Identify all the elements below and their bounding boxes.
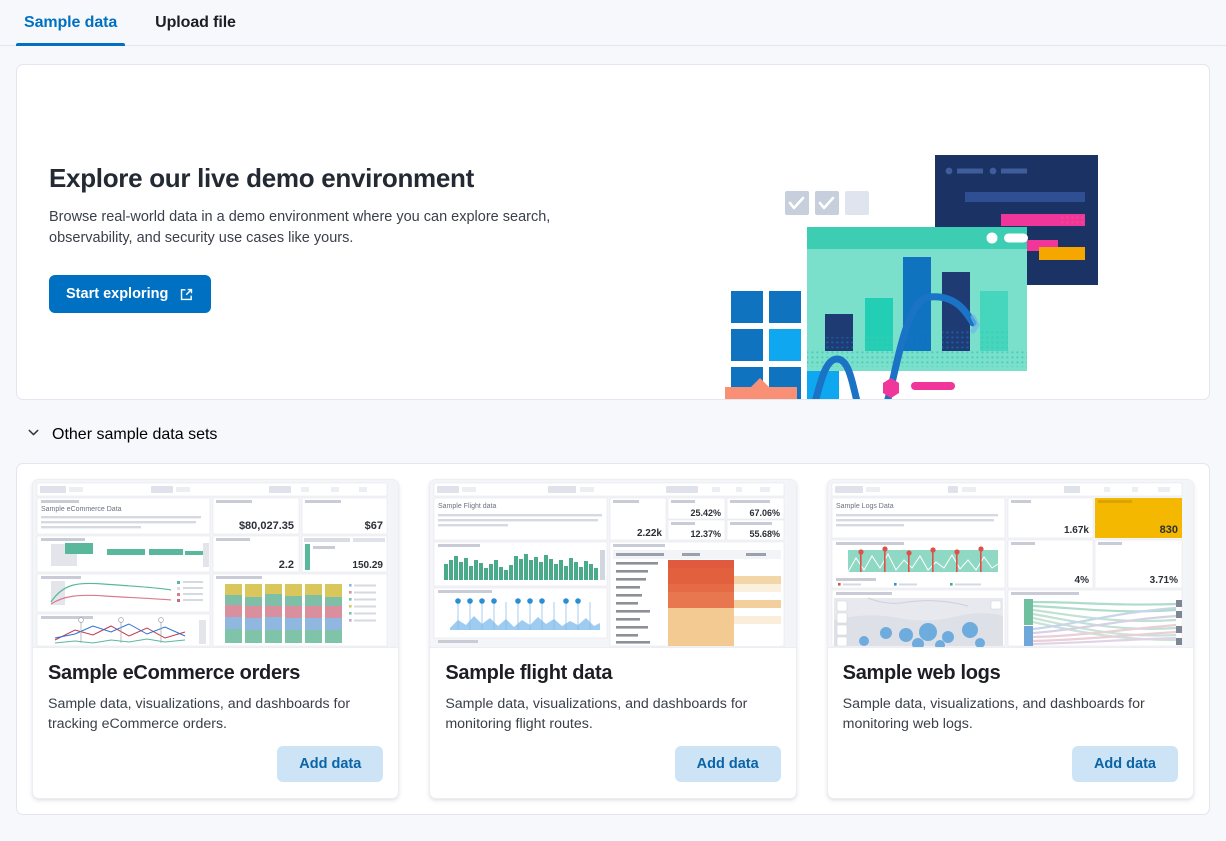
card-title-ecommerce: Sample eCommerce orders — [48, 662, 383, 685]
card-body-ecommerce: Sample eCommerce orders Sample data, vis… — [33, 648, 398, 746]
add-data-button-ecommerce[interactable]: Add data — [277, 746, 383, 782]
card-description-weblogs: Sample data, visualizations, and dashboa… — [843, 694, 1178, 734]
svg-text:25.42%: 25.42% — [691, 508, 722, 518]
card-footer-flight: Add data — [430, 746, 795, 798]
card-footer-weblogs: Add data — [828, 746, 1193, 798]
page-content: Explore our live demo environment Browse… — [0, 46, 1226, 815]
card-body-weblogs: Sample web logs Sample data, visualizati… — [828, 648, 1193, 746]
card-title-flight: Sample flight data — [445, 662, 780, 685]
svg-text:12.37%: 12.37% — [691, 529, 722, 539]
svg-text:830: 830 — [1159, 524, 1177, 536]
svg-text:Sample Logs Data: Sample Logs Data — [836, 503, 894, 510]
thumbnail-flight-dashboard: Sample Flight data 2.22k 25.42% 67.06% — [430, 480, 795, 648]
svg-text:67.06%: 67.06% — [750, 508, 781, 518]
svg-text:4%: 4% — [1074, 575, 1089, 586]
svg-text:Sample eCommerce Data: Sample eCommerce Data — [41, 506, 122, 513]
card-description-flight: Sample data, visualizations, and dashboa… — [445, 694, 780, 734]
tab-bar: Sample data Upload file — [0, 0, 1226, 46]
start-exploring-button[interactable]: Start exploring — [49, 275, 211, 313]
chevron-down-icon — [26, 425, 41, 445]
start-exploring-label: Start exploring — [66, 286, 168, 302]
thumbnail-weblogs-dashboard: Sample Logs Data 1.67k 830 — [828, 480, 1193, 648]
hero-text-block: Explore our live demo environment Browse… — [49, 163, 609, 313]
tab-sample-data[interactable]: Sample data — [16, 0, 125, 45]
external-link-icon — [179, 287, 194, 302]
hero-description: Browse real-world data in a demo environ… — [49, 207, 574, 249]
other-sample-data-sets-toggle[interactable]: Other sample data sets — [26, 425, 256, 445]
teal-chart-window — [807, 227, 1028, 371]
card-title-weblogs: Sample web logs — [843, 662, 1178, 685]
other-sample-data-sets-label: Other sample data sets — [52, 426, 217, 444]
demo-environment-panel: Explore our live demo environment Browse… — [16, 64, 1210, 400]
card-body-flight: Sample flight data Sample data, visualiz… — [430, 648, 795, 746]
svg-text:55.68%: 55.68% — [750, 529, 781, 539]
svg-text:Sample Flight data: Sample Flight data — [438, 503, 496, 510]
add-data-button-weblogs[interactable]: Add data — [1072, 746, 1178, 782]
svg-text:$67: $67 — [365, 520, 383, 532]
svg-text:2.22k: 2.22k — [637, 528, 662, 539]
card-footer-ecommerce: Add data — [33, 746, 398, 798]
tab-sample-data-label: Sample data — [24, 14, 117, 32]
card-description-ecommerce: Sample data, visualizations, and dashboa… — [48, 694, 383, 734]
svg-text:150.29: 150.29 — [352, 560, 383, 571]
thumbnail-ecommerce-dashboard: Sample eCommerce Data $80,027.35 $67 — [33, 480, 398, 648]
add-data-button-flight[interactable]: Add data — [675, 746, 781, 782]
hero-title: Explore our live demo environment — [49, 163, 609, 194]
svg-text:1.67k: 1.67k — [1064, 525, 1089, 536]
tab-upload-file[interactable]: Upload file — [147, 0, 244, 45]
card-sample-web-logs[interactable]: Sample Logs Data 1.67k 830 — [827, 479, 1194, 799]
demo-environment-illustration — [721, 151, 1101, 400]
card-sample-ecommerce-orders[interactable]: Sample eCommerce Data $80,027.35 $67 — [32, 479, 399, 799]
svg-text:$80,027.35: $80,027.35 — [239, 520, 294, 532]
checkbox-group — [785, 191, 869, 215]
tab-upload-file-label: Upload file — [155, 14, 236, 32]
svg-text:2.2: 2.2 — [279, 559, 294, 571]
svg-text:3.71%: 3.71% — [1149, 575, 1177, 586]
sample-data-cards-panel: Sample eCommerce Data $80,027.35 $67 — [16, 463, 1210, 815]
card-sample-flight-data[interactable]: Sample Flight data 2.22k 25.42% 67.06% — [429, 479, 796, 799]
